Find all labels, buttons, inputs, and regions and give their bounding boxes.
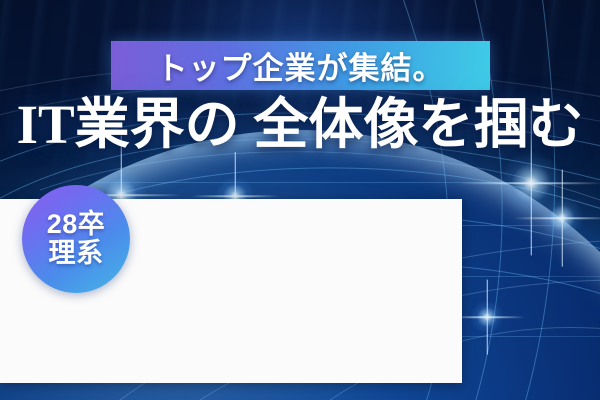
- page-title: IT業界の 全体像を掴む: [0, 96, 600, 154]
- seminar-promo-banner: トップ企業が集結。 IT業界の 全体像を掴む 業界研究セミナー IT業界編 20…: [0, 0, 600, 400]
- graduation-year-badge-line1: 28卒: [47, 210, 106, 239]
- sub-headline-band: トップ企業が集結。: [111, 41, 490, 90]
- sub-headline-text: トップ企業が集結。: [111, 41, 490, 90]
- graduation-year-badge: 28卒 理系: [22, 185, 130, 293]
- graduation-year-badge-line2: 理系: [49, 239, 104, 268]
